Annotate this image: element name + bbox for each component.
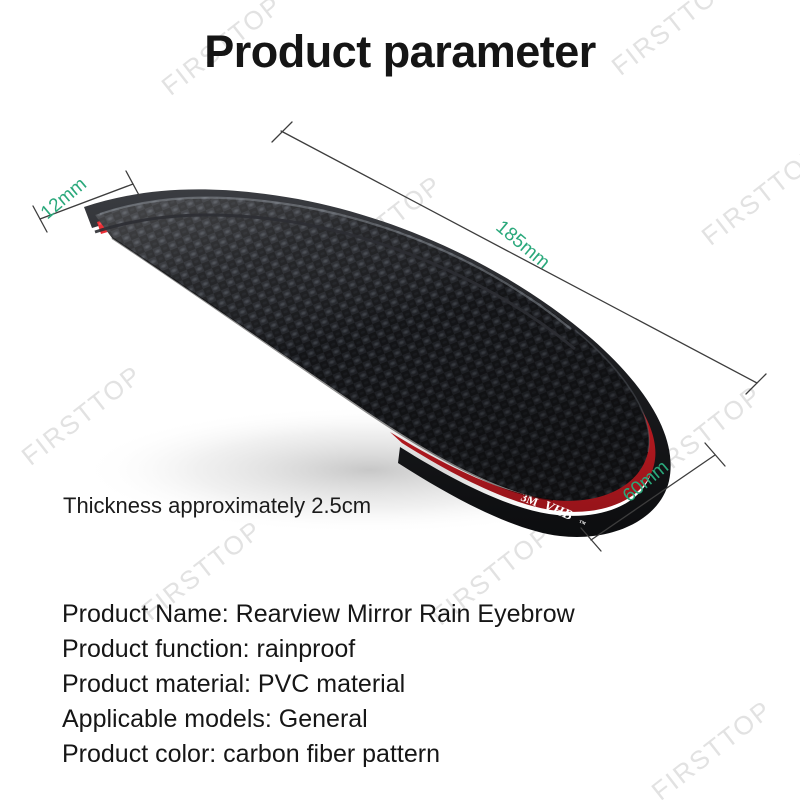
spec-item-product-material: Product material: PVC material [62,667,575,702]
specification-list: Product Name: Rearview Mirror Rain Eyebr… [62,597,575,772]
page-title: Product parameter [0,26,800,78]
spec-item-product-color: Product color: carbon fiber pattern [62,737,575,772]
spec-item-product-name: Product Name: Rearview Mirror Rain Eyebr… [62,597,575,632]
spec-item-applicable-models: Applicable models: General [62,702,575,737]
spec-item-product-function: Product function: rainproof [62,632,575,667]
thickness-note: Thickness approximately 2.5cm [63,493,371,519]
product-parameter-page: FIRSTTOP FIRSTTOP FIRSTTOP FIRSTTOP FIRS… [0,0,800,800]
